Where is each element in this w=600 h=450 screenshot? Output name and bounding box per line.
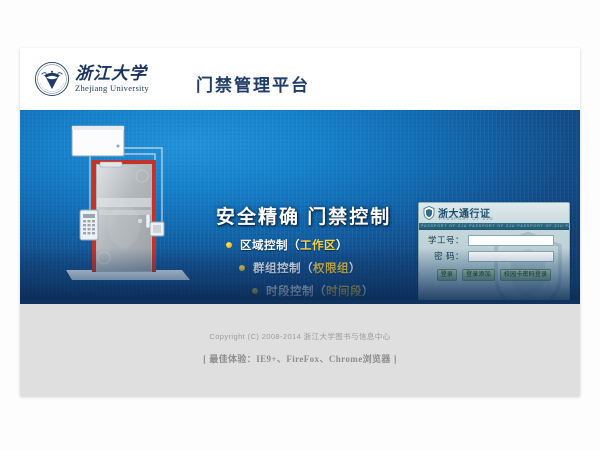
logo-wordmark: 浙江大学 Zhejiang University — [75, 65, 149, 93]
site-header: 浙江大学 Zhejiang University 门禁管理平台 — [20, 48, 580, 110]
page-container: 浙江大学 Zhejiang University 门禁管理平台 — [20, 48, 580, 396]
hero-banner: 安全精确 门禁控制 区域控制（工作区） 群组控制（权限组） 时段控制（时间段） — [20, 110, 580, 304]
username-input[interactable] — [468, 235, 554, 246]
shield-icon — [423, 206, 435, 220]
university-logo[interactable]: 浙江大学 Zhejiang University — [34, 61, 149, 97]
login-panel-subtitle: PASSPORT OF ZJU — [439, 216, 494, 221]
banner-bottom-fade — [20, 248, 580, 304]
passport-stripe: PASSPORT OF ZJU PASSPORT OF ZJU PASSPORT… — [419, 223, 569, 230]
username-row: 学工号： — [427, 234, 569, 246]
zju-seal-icon — [34, 61, 70, 97]
page-title: 门禁管理平台 — [196, 71, 310, 96]
logo-en-text: Zhejiang University — [75, 83, 149, 93]
copyright-text: Copyright (C) 2008-2014 浙江大学图书与信息中心 — [20, 331, 580, 342]
login-panel-header: 浙大通行证 PASSPORT OF ZJU — [419, 203, 569, 224]
username-label: 学工号： — [427, 234, 464, 246]
logo-cn-text: 浙江大学 — [75, 65, 149, 83]
browser-support-text: [ 最佳体验：IE9+、FireFox、Chrome浏览器 ] — [20, 352, 580, 365]
site-footer: Copyright (C) 2008-2014 浙江大学图书与信息中心 [ 最佳… — [20, 304, 580, 396]
banner-headline: 安全精确 门禁控制 — [216, 202, 391, 229]
